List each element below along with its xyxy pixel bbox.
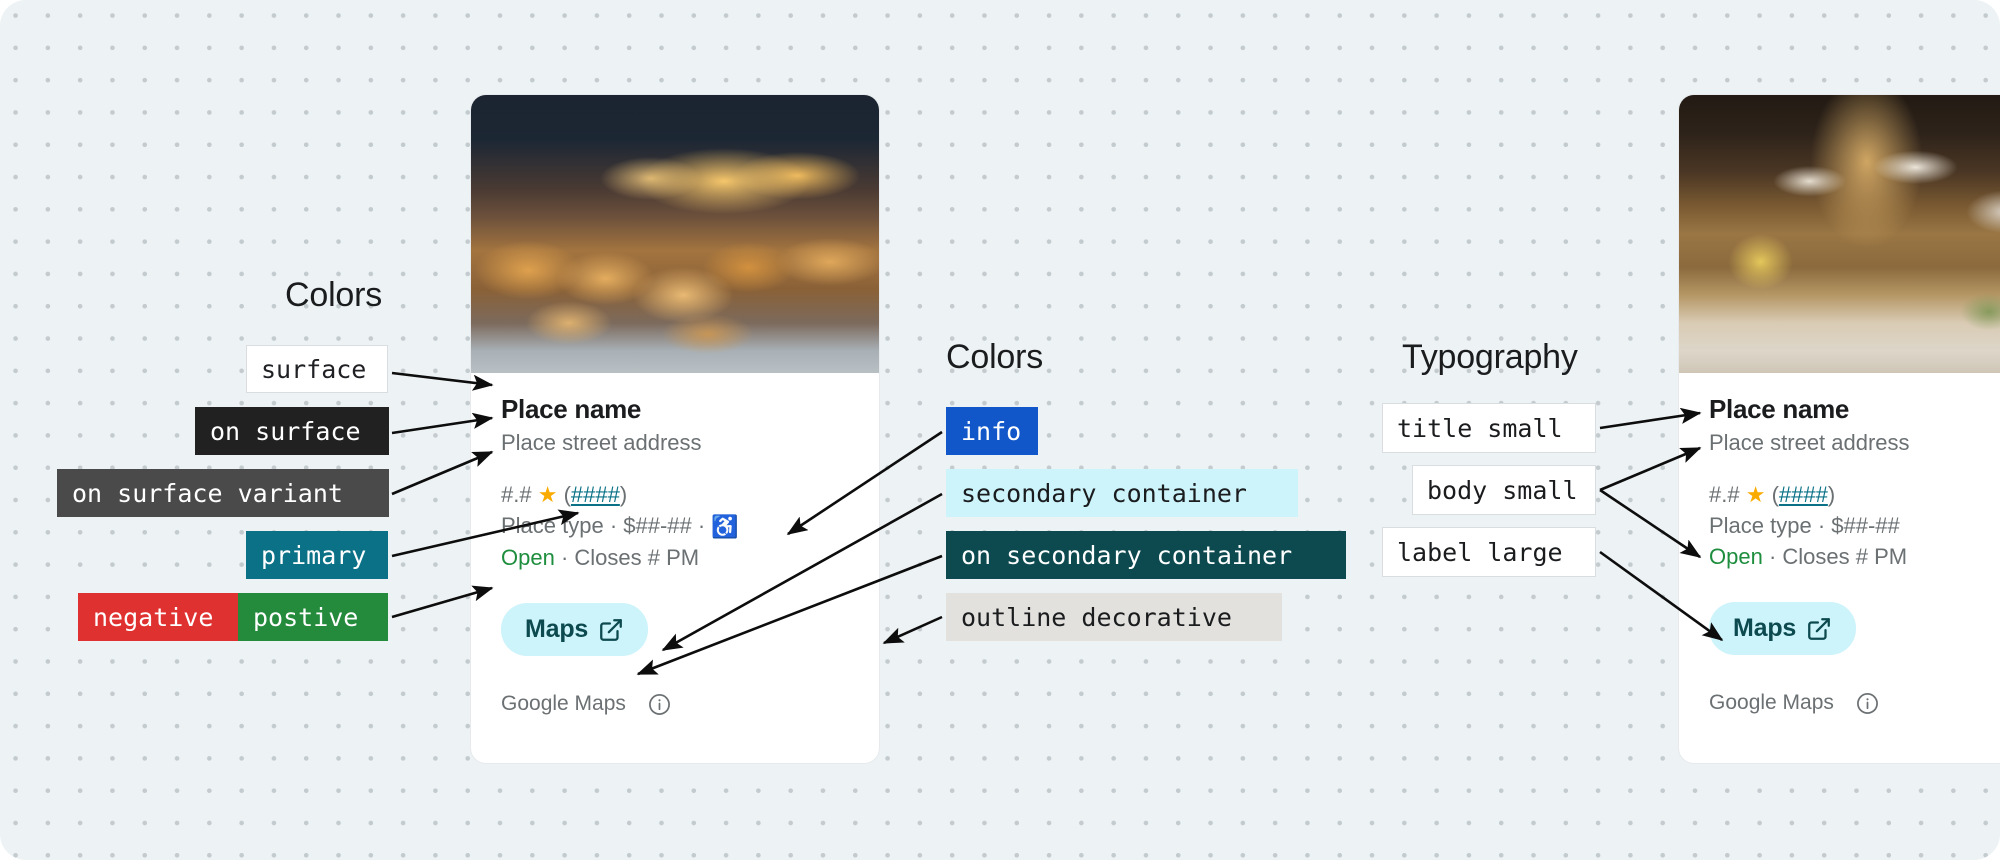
maps-button-label: Maps bbox=[525, 615, 588, 644]
place-card-body: Place name Place street address #.# ★ (#… bbox=[471, 373, 879, 716]
footer-attribution-label: Google Maps bbox=[501, 692, 626, 716]
place-meta-right: #.# ★ (####) Place type · $##-## Open · … bbox=[1709, 479, 2000, 573]
place-rating-line-right: #.# ★ (####) bbox=[1709, 479, 2000, 510]
place-rating-line: #.# ★ (####) bbox=[501, 479, 849, 510]
color-token-outline-decorative[interactable]: outline decorative bbox=[946, 593, 1282, 641]
place-closing-time-right: · Closes # PM bbox=[1763, 544, 1907, 569]
section-title-colors-left: Colors bbox=[285, 276, 382, 315]
external-link-icon-right bbox=[1806, 616, 1832, 642]
reviews-open-paren: ( bbox=[564, 482, 571, 507]
review-count-link-right[interactable]: #### bbox=[1779, 482, 1828, 507]
meta-separator: · bbox=[692, 513, 712, 538]
color-token-primary[interactable]: primary bbox=[246, 531, 388, 579]
place-address-right: Place street address bbox=[1709, 430, 2000, 456]
maps-button-label-right: Maps bbox=[1733, 614, 1796, 643]
place-card-center[interactable]: Place name Place street address #.# ★ (#… bbox=[470, 94, 880, 764]
typography-token-body-small[interactable]: body small bbox=[1412, 465, 1596, 515]
place-closing-time: · Closes # PM bbox=[555, 545, 699, 570]
place-card-right-body: Place name Place street address #.# ★ (#… bbox=[1679, 373, 2000, 715]
reviews-open-paren-right: ( bbox=[1772, 482, 1779, 507]
typography-token-label-large[interactable]: label large bbox=[1382, 527, 1596, 577]
place-type-price-right: Place type · $##-## bbox=[1709, 513, 1900, 538]
status-badge-open-right: Open bbox=[1709, 544, 1763, 569]
color-token-surface[interactable]: surface bbox=[246, 345, 388, 393]
color-token-info[interactable]: info bbox=[946, 407, 1038, 455]
color-token-negative[interactable]: negative bbox=[78, 593, 238, 641]
maps-button-right[interactable]: Maps bbox=[1709, 602, 1856, 655]
wheelchair-accessible-icon: ♿ bbox=[711, 514, 738, 539]
color-token-on-surface[interactable]: on surface bbox=[195, 407, 389, 455]
color-token-on-secondary-container[interactable]: on secondary container bbox=[946, 531, 1346, 579]
info-icon[interactable] bbox=[648, 693, 671, 716]
place-photo bbox=[471, 95, 879, 373]
place-type-price-line: Place type · $##-## · ♿ bbox=[501, 510, 849, 542]
reviews-close-paren: ) bbox=[620, 482, 627, 507]
color-token-on-surface-variant[interactable]: on surface variant bbox=[57, 469, 389, 517]
star-icon-right: ★ bbox=[1746, 482, 1766, 507]
section-title-colors-middle: Colors bbox=[946, 338, 1043, 377]
footer-attribution-label-right: Google Maps bbox=[1709, 691, 1834, 715]
place-photo-right bbox=[1679, 95, 2000, 373]
place-name: Place name bbox=[501, 395, 849, 424]
rating-value: #.# bbox=[501, 482, 532, 507]
card-footer-right: Google Maps bbox=[1709, 691, 2000, 715]
color-token-positive[interactable]: postive bbox=[238, 593, 388, 641]
maps-button[interactable]: Maps bbox=[501, 603, 648, 656]
star-icon: ★ bbox=[538, 482, 558, 507]
place-type-price: Place type · $##-## bbox=[501, 513, 692, 538]
arrow-outline-decorative-to-card-border bbox=[884, 617, 942, 643]
place-hours-line: Open · Closes # PM bbox=[501, 542, 849, 573]
place-type-price-line-right: Place type · $##-## bbox=[1709, 510, 2000, 541]
place-hours-line-right: Open · Closes # PM bbox=[1709, 541, 2000, 572]
section-title-typography: Typography bbox=[1402, 338, 1578, 377]
place-name-right: Place name bbox=[1709, 395, 2000, 424]
info-icon-right[interactable] bbox=[1856, 692, 1879, 715]
place-card-right[interactable]: Place name Place street address #.# ★ (#… bbox=[1678, 94, 2000, 764]
status-badge-open: Open bbox=[501, 545, 555, 570]
design-spec-canvas: Colors Colors Typography surface on surf… bbox=[0, 0, 2000, 860]
review-count-link[interactable]: #### bbox=[571, 482, 620, 507]
reviews-close-paren-right: ) bbox=[1828, 482, 1835, 507]
place-meta: #.# ★ (####) Place type · $##-## · ♿ Ope… bbox=[501, 479, 849, 574]
card-footer: Google Maps bbox=[501, 692, 849, 716]
external-link-icon bbox=[598, 617, 624, 643]
rating-value-right: #.# bbox=[1709, 482, 1740, 507]
color-token-secondary-container[interactable]: secondary container bbox=[946, 469, 1298, 517]
typography-token-title-small[interactable]: title small bbox=[1382, 403, 1596, 453]
place-address: Place street address bbox=[501, 430, 849, 456]
